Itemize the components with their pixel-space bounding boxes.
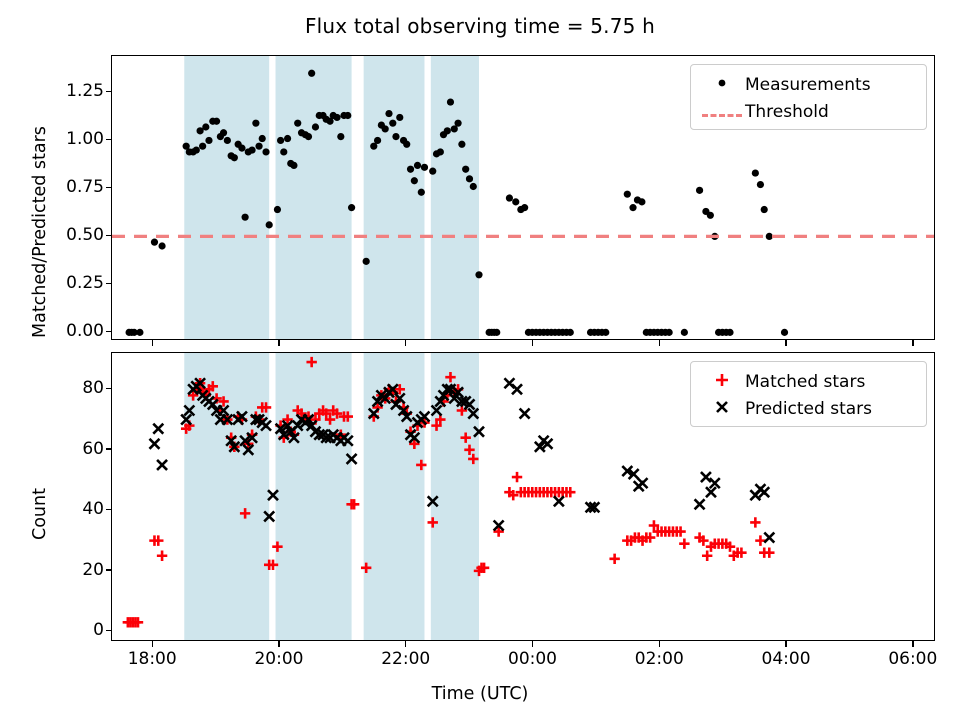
shaded-band-2 xyxy=(276,56,352,340)
top-y-tick-mark xyxy=(106,91,112,92)
shaded-band-3 xyxy=(364,56,425,340)
x-tick-20-00: 20:00 xyxy=(254,649,303,669)
bottom-y-tick-0: 0 xyxy=(20,620,104,640)
legend-item-threshold: Threshold xyxy=(699,98,916,125)
top-x-tick-mark xyxy=(278,340,279,346)
bottom-x-tick-mark xyxy=(405,641,406,647)
bottom-panel-legend: Matched stars Predicted stars xyxy=(690,361,927,427)
bottom-y-tick-mark xyxy=(106,448,112,449)
x-tick-22-00: 22:00 xyxy=(381,649,430,669)
dashed-line-icon xyxy=(699,104,745,120)
bottom-y-tick-40: 40 xyxy=(20,499,104,519)
x-tick-04-00: 04:00 xyxy=(762,649,811,669)
x-axis-label: Time (UTC) xyxy=(0,684,960,704)
figure-root: Flux total observing time = 5.75 h Match… xyxy=(0,0,960,720)
shaded-band-2 xyxy=(276,353,352,641)
shaded-band-1 xyxy=(184,56,269,340)
top-y-tick-mark xyxy=(106,331,112,332)
legend-label-predicted-stars: Predicted stars xyxy=(745,399,872,419)
top-y-tick-0.00: 0.00 xyxy=(20,321,104,341)
top-x-tick-mark xyxy=(405,340,406,346)
x-tick-06-00: 06:00 xyxy=(888,649,937,669)
bottom-x-tick-mark xyxy=(659,641,660,647)
bottom-y-tick-mark xyxy=(106,388,112,389)
top-y-tick-1.00: 1.00 xyxy=(20,129,104,149)
bottom-y-tick-mark xyxy=(106,509,112,510)
bottom-x-tick-mark xyxy=(278,641,279,647)
top-y-tick-mark xyxy=(106,283,112,284)
top-x-tick-mark xyxy=(152,340,153,346)
x-tick-02-00: 02:00 xyxy=(635,649,684,669)
top-y-tick-0.50: 0.50 xyxy=(20,225,104,245)
bottom-x-tick-mark xyxy=(152,641,153,647)
top-y-tick-1.25: 1.25 xyxy=(20,81,104,101)
legend-item-predicted-stars: Predicted stars xyxy=(699,395,916,422)
bottom-y-tick-mark xyxy=(106,630,112,631)
x-tick-18-00: 18:00 xyxy=(128,649,177,669)
top-y-tick-0.75: 0.75 xyxy=(20,177,104,197)
legend-label-measurements: Measurements xyxy=(745,75,871,95)
top-x-tick-mark xyxy=(912,340,913,346)
top-y-tick-0.25: 0.25 xyxy=(20,273,104,293)
bottom-y-tick-mark xyxy=(106,569,112,570)
bottom-x-tick-mark xyxy=(532,641,533,647)
top-x-tick-mark xyxy=(785,340,786,346)
shaded-band-4 xyxy=(431,56,479,340)
bottom-y-tick-20: 20 xyxy=(20,560,104,580)
top-panel-legend: Measurements Threshold xyxy=(690,64,927,130)
legend-label-matched-stars: Matched stars xyxy=(745,372,865,392)
bottom-y-tick-60: 60 xyxy=(20,439,104,459)
plus-marker-icon xyxy=(699,372,745,391)
top-x-tick-mark xyxy=(659,340,660,346)
bottom-y-tick-80: 80 xyxy=(20,378,104,398)
legend-item-matched-stars: Matched stars xyxy=(699,368,916,395)
top-y-tick-mark xyxy=(106,187,112,188)
bottom-x-tick-mark xyxy=(912,641,913,647)
top-y-tick-mark xyxy=(106,235,112,236)
legend-label-threshold: Threshold xyxy=(745,102,829,122)
top-x-tick-mark xyxy=(532,340,533,346)
dot-marker-icon xyxy=(699,76,745,93)
x-tick-00-00: 00:00 xyxy=(508,649,557,669)
chart-title: Flux total observing time = 5.75 h xyxy=(0,14,960,38)
legend-item-measurements: Measurements xyxy=(699,71,916,98)
cross-marker-icon xyxy=(699,399,745,418)
bottom-x-tick-mark xyxy=(785,641,786,647)
top-y-tick-mark xyxy=(106,139,112,140)
